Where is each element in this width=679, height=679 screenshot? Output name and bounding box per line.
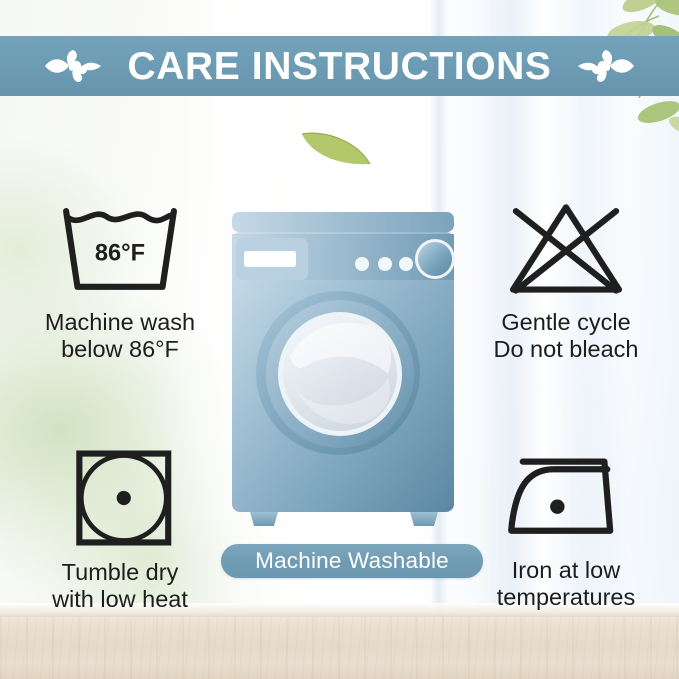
care-item-caption: Machine wash below 86°F xyxy=(6,309,234,364)
crossed-triangle-icon xyxy=(452,196,679,300)
care-item-caption: Tumble dry with low heat xyxy=(6,559,234,614)
header-banner: CARE INSTRUCTIONS xyxy=(0,36,679,96)
care-item-gentle-cycle: Gentle cycle Do not bleach xyxy=(452,196,679,364)
care-instructions-graphic: CARE INSTRUCTIONS 86°F Machine wash belo… xyxy=(0,0,679,679)
machine-washable-badge: Machine Washable xyxy=(221,544,483,578)
page-title: CARE INSTRUCTIONS xyxy=(127,47,551,86)
care-item-caption: Iron at low temperatures xyxy=(452,557,679,612)
washing-machine-illustration xyxy=(228,206,458,536)
care-item-machine-wash: 86°F Machine wash below 86°F xyxy=(6,196,234,364)
tumble-dry-low-icon xyxy=(6,446,234,550)
care-item-tumble-dry: Tumble dry with low heat xyxy=(6,446,234,614)
care-item-iron: Iron at low temperatures xyxy=(452,452,679,612)
wash-temperature-value: 86°F xyxy=(95,240,145,266)
wash-tub-icon: 86°F xyxy=(6,196,234,300)
iron-one-dot-icon xyxy=(452,452,679,548)
fleur-de-lis-icon-left xyxy=(45,46,101,86)
care-item-caption: Gentle cycle Do not bleach xyxy=(452,309,679,364)
fleur-de-lis-icon-right xyxy=(578,46,634,86)
badge-label: Machine Washable xyxy=(255,550,449,573)
wooden-table-surface xyxy=(0,617,679,679)
floating-leaf-decoration xyxy=(298,122,374,168)
